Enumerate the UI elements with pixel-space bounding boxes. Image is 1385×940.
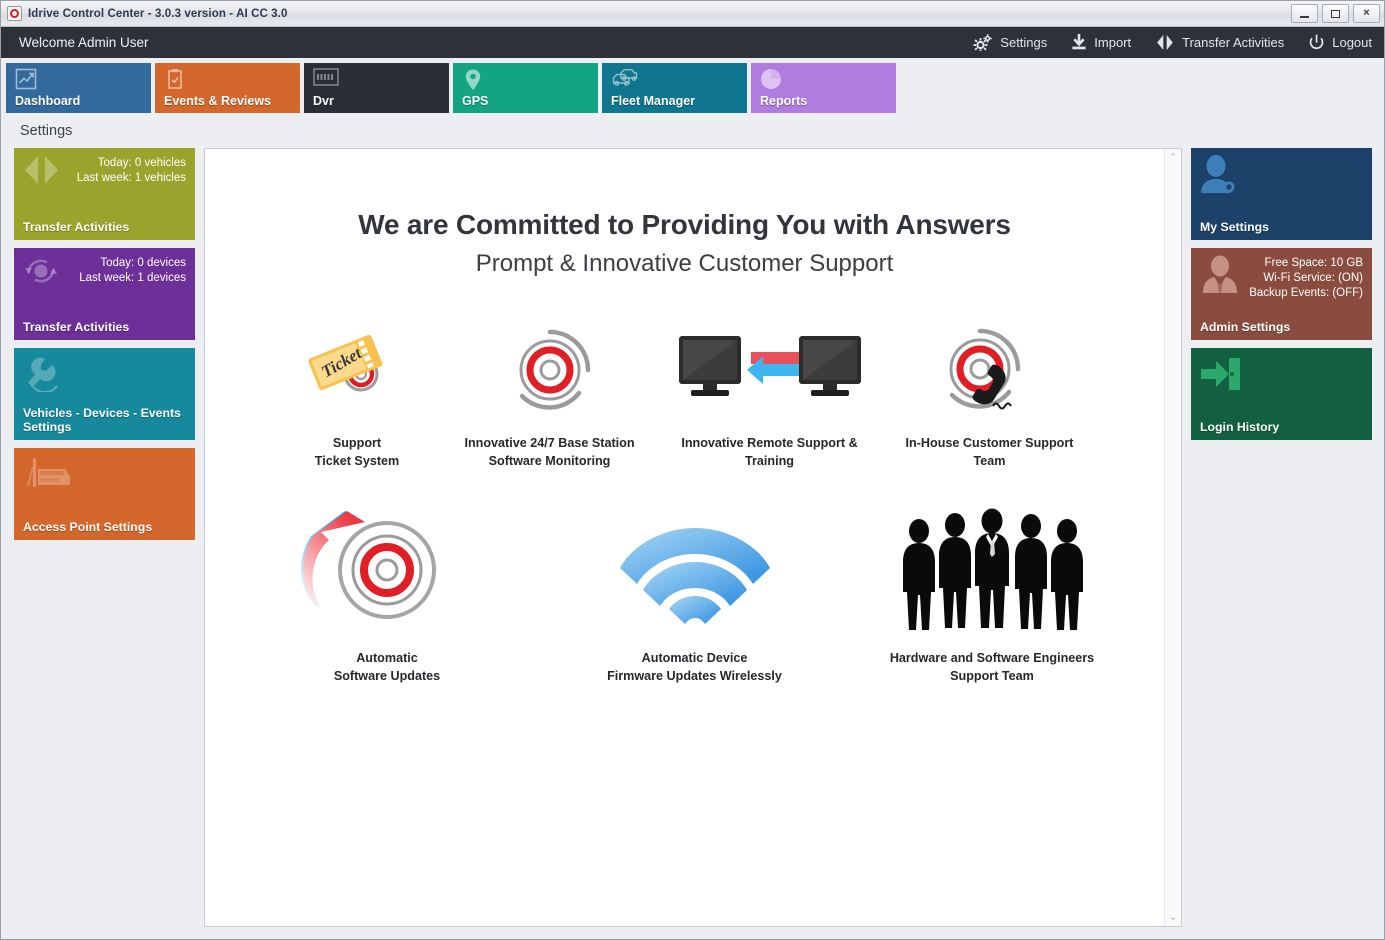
- feature-caption: Hardware and Software Engineers Support …: [890, 649, 1094, 685]
- scroll-up-icon[interactable]: ⌃: [1168, 153, 1177, 163]
- tile-title: Vehicles - Devices - Events Settings: [23, 406, 188, 434]
- nav-tab-dashboard[interactable]: Dashboard: [6, 63, 151, 113]
- nav-tab-reports[interactable]: Reports: [751, 63, 896, 113]
- tile-stats: Today: 0 vehicles Last week: 1 vehicles: [23, 156, 186, 186]
- tile-title: Admin Settings: [1200, 320, 1290, 334]
- feature-remote-support-training: Innovative Remote Support & Training: [657, 320, 882, 470]
- feature-caption: Innovative Remote Support & Training: [681, 434, 857, 470]
- dvr-icon: [313, 73, 339, 90]
- content-panel: We are Committed to Providing You with A…: [204, 148, 1182, 927]
- wifi-icon: [620, 505, 770, 635]
- gears-icon: [973, 34, 993, 51]
- tile-stat-line: Today: 0 vehicles: [23, 156, 186, 171]
- tile-stats: Today: 0 devices Last week: 1 devices: [23, 256, 186, 286]
- tile-stat-line: Today: 0 devices: [23, 256, 186, 271]
- breadcrumb-current: Settings: [20, 123, 72, 139]
- nav-tab-dvr-label: Dvr: [313, 94, 334, 108]
- tile-my-settings[interactable]: My Settings: [1191, 148, 1372, 240]
- page-subheading: Prompt & Innovative Customer Support: [225, 250, 1144, 278]
- close-icon: ×: [1363, 8, 1369, 19]
- header-import-button[interactable]: Import: [1071, 34, 1131, 51]
- header-actions: Settings Import Transf: [973, 34, 1372, 51]
- feature-in-house-support-team: In-House Customer Support Team: [882, 320, 1097, 470]
- nav-tab-fleet-manager-label: Fleet Manager: [611, 94, 695, 108]
- nav-tab-reports-label: Reports: [760, 94, 807, 108]
- right-tile-column: My Settings Free Space: 10 GB Wi-Fi Serv…: [1191, 148, 1372, 927]
- login-door-icon: [1201, 356, 1241, 397]
- wrench-icon: [24, 356, 62, 397]
- tile-admin-settings[interactable]: Free Space: 10 GB Wi-Fi Service: (ON) Ba…: [1191, 248, 1372, 340]
- tile-login-history[interactable]: Login History: [1191, 348, 1372, 440]
- team-silhouette-icon: [897, 505, 1087, 635]
- feature-caption: In-House Customer Support Team: [906, 434, 1074, 470]
- feature-support-ticket-system: Ticket Support Ticket System: [272, 320, 442, 470]
- pie-chart-icon: [760, 77, 782, 94]
- nav-tab-dvr[interactable]: Dvr: [304, 63, 449, 113]
- power-icon: [1308, 34, 1325, 51]
- tile-title: Login History: [1200, 420, 1279, 434]
- ticket-target-icon: Ticket: [302, 320, 412, 420]
- header-logout-button[interactable]: Logout: [1308, 34, 1372, 51]
- breadcrumb: Settings: [1, 114, 1384, 148]
- target-phone-icon: [935, 320, 1045, 420]
- vehicles-icon: [611, 75, 639, 92]
- download-icon: [1071, 34, 1087, 51]
- feature-caption: Support Ticket System: [315, 434, 399, 470]
- feature-caption: Automatic Device Firmware Updates Wirele…: [607, 649, 782, 685]
- main-navigation: Dashboard Events & Reviews Dvr GPS: [1, 58, 1384, 114]
- feature-engineers-support-team: Hardware and Software Engineers Support …: [847, 505, 1137, 685]
- tile-stats: Free Space: 10 GB Wi-Fi Service: (ON) Ba…: [1200, 256, 1363, 301]
- support-page: We are Committed to Providing You with A…: [205, 149, 1164, 926]
- clipboard-check-icon: [164, 77, 186, 94]
- nav-tab-fleet-manager[interactable]: Fleet Manager: [602, 63, 747, 113]
- header-bar: Welcome Admin User: [1, 27, 1384, 58]
- red-ring-logo-icon: [7, 6, 22, 21]
- transfer-arrows-icon: [1155, 34, 1175, 51]
- tile-stat-line: Free Space: 10 GB: [1200, 256, 1363, 271]
- feature-row-2: Automatic Software Updates: [225, 505, 1144, 685]
- page-heading: We are Committed to Providing You with A…: [225, 209, 1144, 241]
- header-transfer-label: Transfer Activities: [1182, 35, 1284, 50]
- tile-title: Access Point Settings: [23, 520, 152, 534]
- nav-tab-dashboard-label: Dashboard: [15, 94, 80, 108]
- header-settings-button[interactable]: Settings: [973, 34, 1047, 51]
- feature-firmware-updates-wirelessly: Automatic Device Firmware Updates Wirele…: [542, 505, 847, 685]
- refresh-target-icon: [297, 505, 477, 635]
- target-rings-icon: [505, 320, 595, 420]
- header-transfer-activities-button[interactable]: Transfer Activities: [1155, 34, 1284, 51]
- feature-automatic-software-updates: Automatic Software Updates: [232, 505, 542, 685]
- header-logout-label: Logout: [1332, 35, 1372, 50]
- tile-transfer-activities-vehicles[interactable]: Today: 0 vehicles Last week: 1 vehicles …: [14, 148, 195, 240]
- tile-title: Transfer Activities: [23, 220, 129, 234]
- tile-stat-line: Last week: 1 vehicles: [23, 171, 186, 186]
- welcome-message: Welcome Admin User: [19, 35, 149, 50]
- tile-vehicles-devices-events-settings[interactable]: Vehicles - Devices - Events Settings: [14, 348, 195, 440]
- header-import-label: Import: [1094, 35, 1131, 50]
- feature-caption: Innovative 24/7 Base Station Software Mo…: [464, 434, 634, 470]
- tile-transfer-activities-devices[interactable]: Today: 0 devices Last week: 1 devices Tr…: [14, 248, 195, 340]
- left-tile-column: Today: 0 vehicles Last week: 1 vehicles …: [14, 148, 195, 927]
- tile-title: My Settings: [1200, 220, 1269, 234]
- nav-tab-events-reviews-label: Events & Reviews: [164, 94, 271, 108]
- tile-title: Transfer Activities: [23, 320, 129, 334]
- tile-stat-line: Backup Events: (OFF): [1200, 286, 1363, 301]
- user-gear-icon: [1199, 154, 1241, 201]
- chart-line-icon: [15, 77, 37, 94]
- nav-tab-gps[interactable]: GPS: [453, 63, 598, 113]
- window-title: Idrive Control Center - 3.0.3 version - …: [28, 8, 287, 20]
- maximize-button[interactable]: [1322, 4, 1349, 23]
- router-icon: [24, 458, 76, 497]
- scroll-down-icon[interactable]: ⌄: [1168, 912, 1177, 922]
- feature-row-1: Ticket Support Ticket System: [225, 320, 1144, 470]
- remote-monitors-icon: [675, 320, 865, 420]
- application-window: Idrive Control Center - 3.0.3 version - …: [0, 0, 1385, 940]
- page-body: Today: 0 vehicles Last week: 1 vehicles …: [1, 148, 1384, 939]
- nav-tab-events-reviews[interactable]: Events & Reviews: [155, 63, 300, 113]
- tile-stat-line: Last week: 1 devices: [23, 271, 186, 286]
- tile-access-point-settings[interactable]: Access Point Settings: [14, 448, 195, 540]
- feature-caption: Automatic Software Updates: [334, 649, 440, 685]
- window-controls: ×: [1291, 4, 1380, 23]
- tile-stat-line: Wi-Fi Service: (ON): [1200, 271, 1363, 286]
- content-vertical-scrollbar[interactable]: ⌃ ⌄: [1164, 149, 1181, 926]
- header-settings-label: Settings: [1000, 35, 1047, 50]
- close-button[interactable]: ×: [1353, 4, 1380, 23]
- nav-tab-gps-label: GPS: [462, 94, 488, 108]
- title-bar: Idrive Control Center - 3.0.3 version - …: [1, 1, 1384, 27]
- minimize-button[interactable]: [1291, 4, 1318, 23]
- feature-base-station-monitoring: Innovative 24/7 Base Station Software Mo…: [442, 320, 657, 470]
